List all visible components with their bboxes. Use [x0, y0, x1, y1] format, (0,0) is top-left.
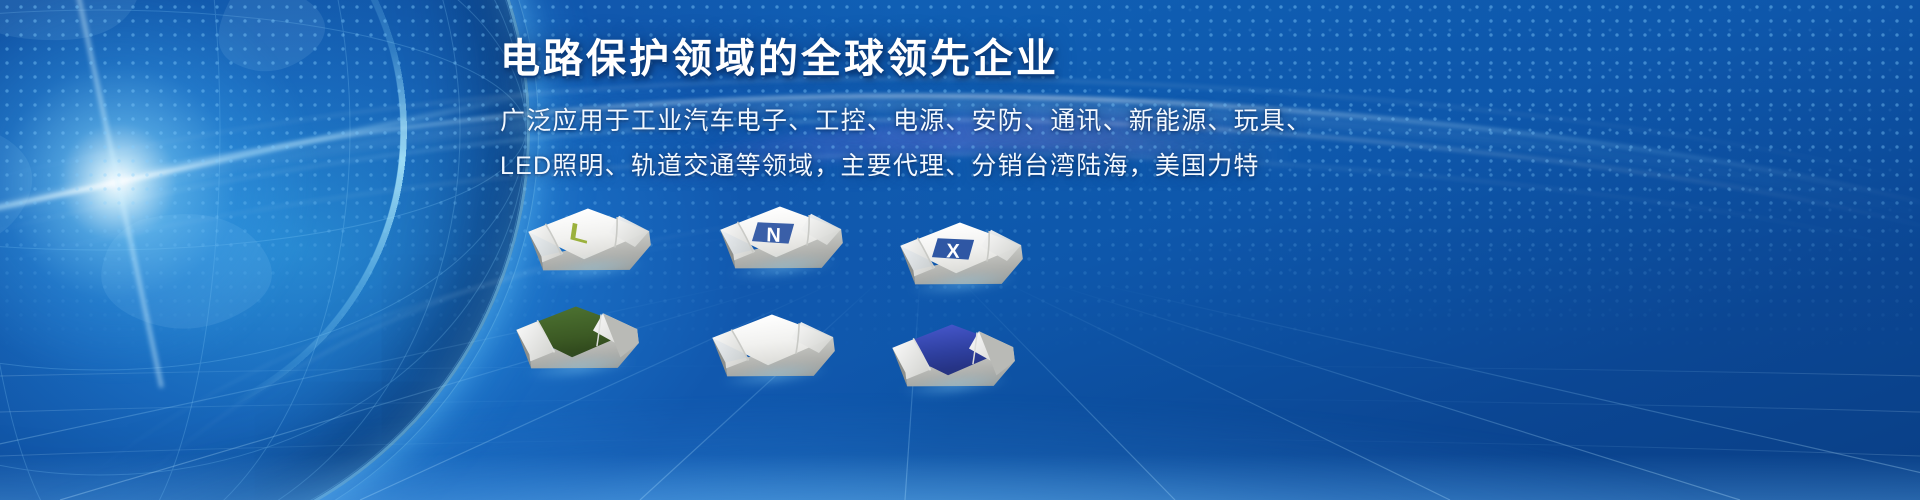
- product-smd-fuse-chip-l: L: [521, 188, 650, 280]
- product-smd-fuse-chip-plain: [705, 294, 834, 386]
- banner-title: 电路保护领域的全球领先企业: [500, 36, 1530, 83]
- svg-text:N: N: [766, 224, 781, 246]
- product-smd-fuse-chip-n: N: [713, 186, 842, 278]
- svg-text:L: L: [567, 218, 590, 250]
- product-smd-fuse-chip-blue: [885, 304, 1014, 396]
- banner-subtitle-line-2: LED照明、轨道交通等领域，主要代理、分销台湾陆海，美国力特: [500, 144, 1530, 189]
- product-smd-fuse-chip-x: X: [893, 202, 1022, 294]
- hero-banner: 电路保护领域的全球领先企业 广泛应用于工业汽车电子、工控、电源、安防、通讯、新能…: [0, 0, 1920, 500]
- product-showcase: L N: [505, 185, 1025, 380]
- bottom-edge-highlight: [0, 454, 1920, 500]
- chip-marking-l: L: [567, 218, 590, 250]
- banner-copy: 电路保护领域的全球领先企业 广泛应用于工业汽车电子、工控、电源、安防、通讯、新能…: [500, 36, 1530, 188]
- svg-text:X: X: [946, 240, 961, 262]
- banner-subtitle-line-1: 广泛应用于工业汽车电子、工控、电源、安防、通讯、新能源、玩具、: [500, 99, 1530, 144]
- product-smd-fuse-chip-green: [509, 286, 638, 378]
